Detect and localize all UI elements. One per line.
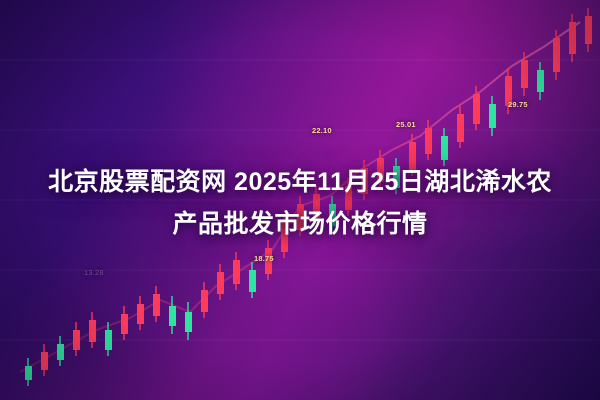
price-label-10-07: 10.07	[174, 170, 194, 179]
price-label-25-01: 25.01	[396, 120, 416, 129]
price-label-22-10: 22.10	[312, 126, 332, 135]
price-label-29-75: 29.75	[508, 100, 528, 109]
candlestick-chart	[0, 0, 600, 400]
price-label-13-28: 13.28	[84, 268, 104, 277]
promo-banner: 22.10 25.01 29.75 10.07 18.75 13.28 北京股票…	[0, 0, 600, 400]
price-label-18-75: 18.75	[254, 254, 274, 263]
candles	[25, 8, 592, 386]
